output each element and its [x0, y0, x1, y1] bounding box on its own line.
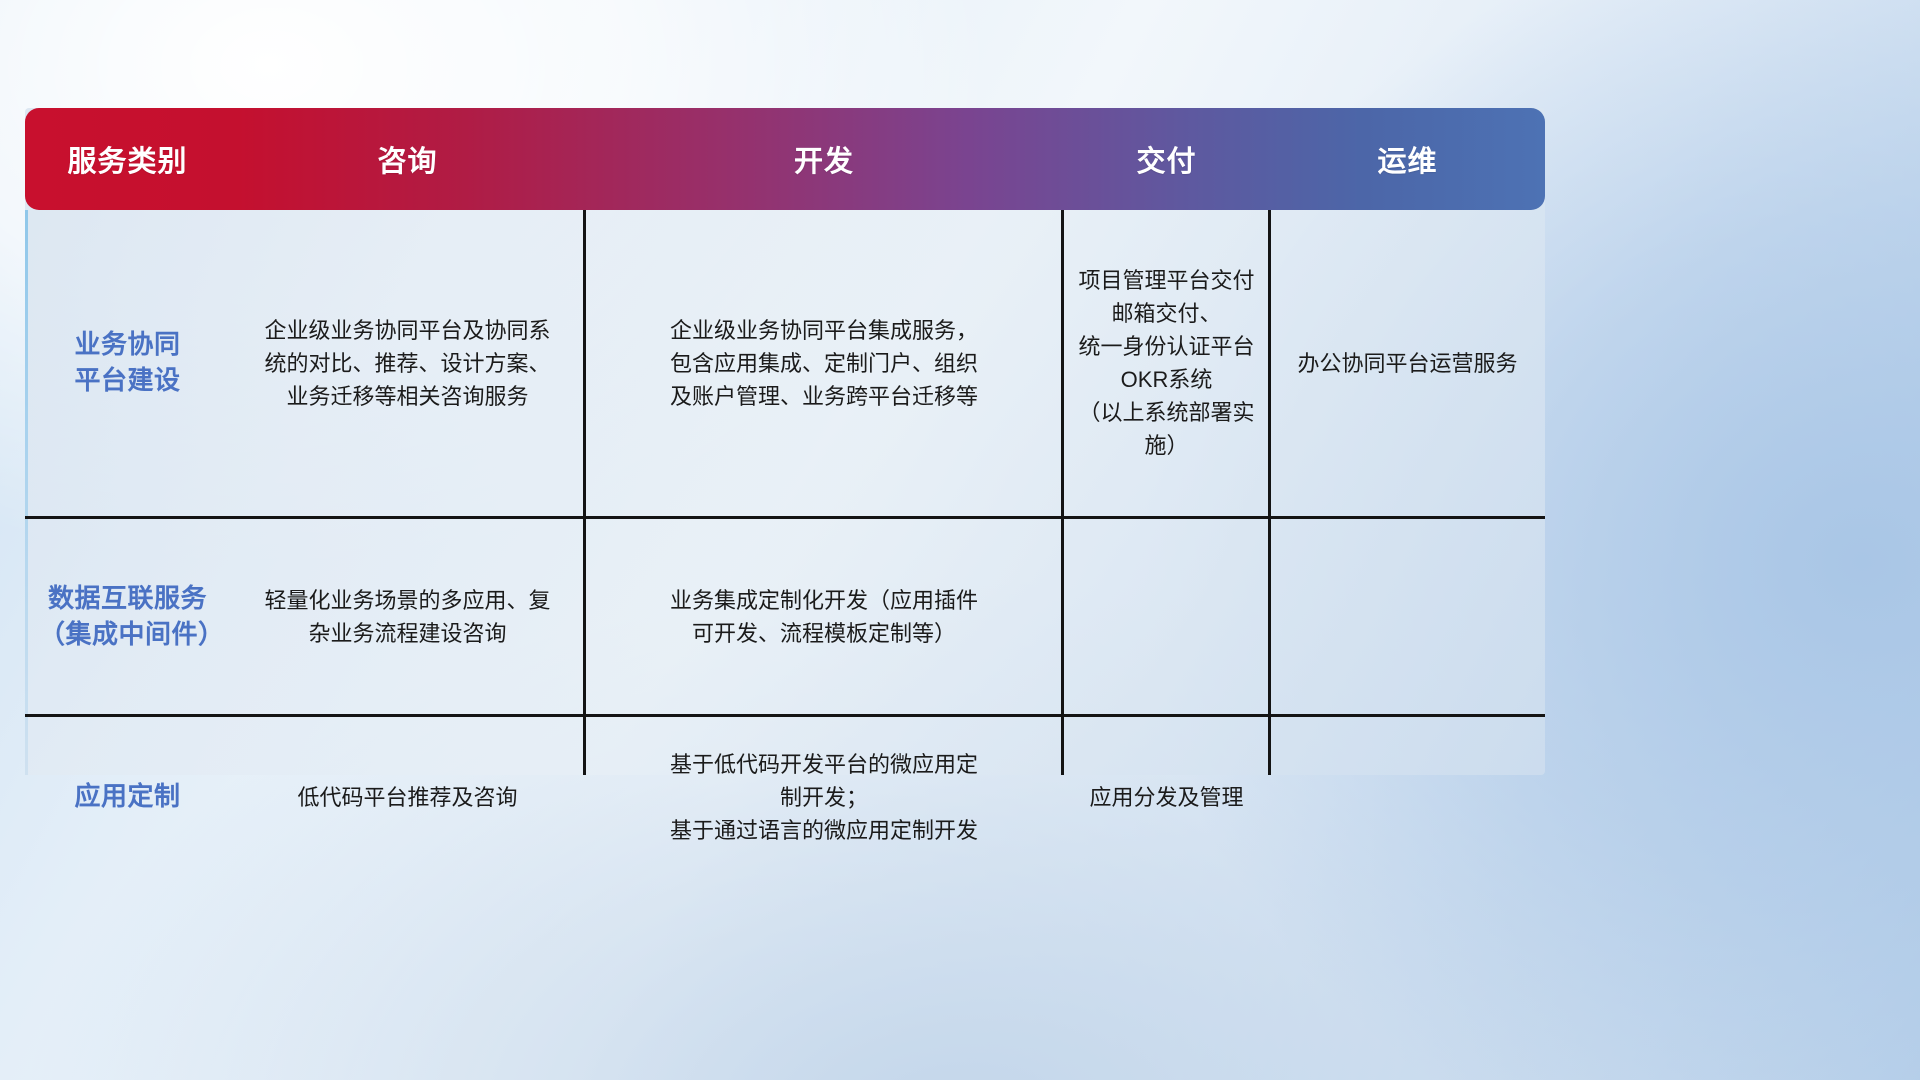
cell-delivery-row1: 项目管理平台交付 邮箱交付、 统一身份认证平台 OKR系统 （以上系统部署实施） — [1063, 264, 1270, 462]
column-divider-1 — [583, 210, 586, 775]
cell-consulting-row2: 轻量化业务场景的多应用、复 杂业务流程建设咨询 — [230, 584, 585, 650]
cell-development-row2: 业务集成定制化开发（应用插件 可开发、流程模板定制等） — [585, 584, 1063, 650]
row-divider-1 — [25, 516, 1545, 519]
cell-development-row1: 企业级业务协同平台集成服务， 包含应用集成、定制门户、组织 及账户管理、业务跨平… — [585, 314, 1063, 413]
column-divider-2 — [1061, 210, 1064, 775]
cell-delivery-row3: 应用分发及管理 — [1063, 781, 1270, 814]
column-header-consulting: 咨询 — [230, 138, 585, 180]
cell-consulting-row3: 低代码平台推荐及咨询 — [230, 781, 585, 814]
cell-development-row3: 基于低代码开发平台的微应用定 制开发； 基于通过语言的微应用定制开发 — [585, 748, 1063, 847]
row-label-app-customization: 应用定制 — [25, 779, 230, 815]
row-divider-2 — [25, 714, 1545, 717]
table-row: 数据互联服务 （集成中间件） 轻量化业务场景的多应用、复 杂业务流程建设咨询 业… — [25, 518, 1545, 715]
table-row: 应用定制 低代码平台推荐及咨询 基于低代码开发平台的微应用定 制开发； 基于通过… — [25, 717, 1545, 877]
column-divider-3 — [1268, 210, 1271, 775]
cell-consulting-row1: 企业级业务协同平台及协同系 统的对比、推荐、设计方案、 业务迁移等相关咨询服务 — [230, 314, 585, 413]
column-header-category: 服务类别 — [25, 138, 230, 180]
cell-operations-row1: 办公协同平台运营服务 — [1270, 347, 1545, 380]
table-body: 业务协同 平台建设 企业级业务协同平台及协同系 统的对比、推荐、设计方案、 业务… — [25, 210, 1545, 775]
row-label-data-interconnect: 数据互联服务 （集成中间件） — [25, 581, 230, 653]
column-header-operations: 运维 — [1270, 138, 1545, 180]
slide-canvas: 服务类别 咨询 开发 交付 运维 业务协同 平台建设 企业级业务协同平台及协同系… — [0, 0, 1920, 1080]
table-row: 业务协同 平台建设 企业级业务协同平台及协同系 统的对比、推荐、设计方案、 业务… — [25, 210, 1545, 516]
table-header-row: 服务类别 咨询 开发 交付 运维 — [25, 108, 1545, 210]
column-header-development: 开发 — [585, 138, 1063, 180]
service-matrix-table: 服务类别 咨询 开发 交付 运维 业务协同 平台建设 企业级业务协同平台及协同系… — [25, 108, 1545, 775]
column-header-delivery: 交付 — [1063, 138, 1270, 180]
row-label-business-collaboration: 业务协同 平台建设 — [25, 327, 230, 399]
